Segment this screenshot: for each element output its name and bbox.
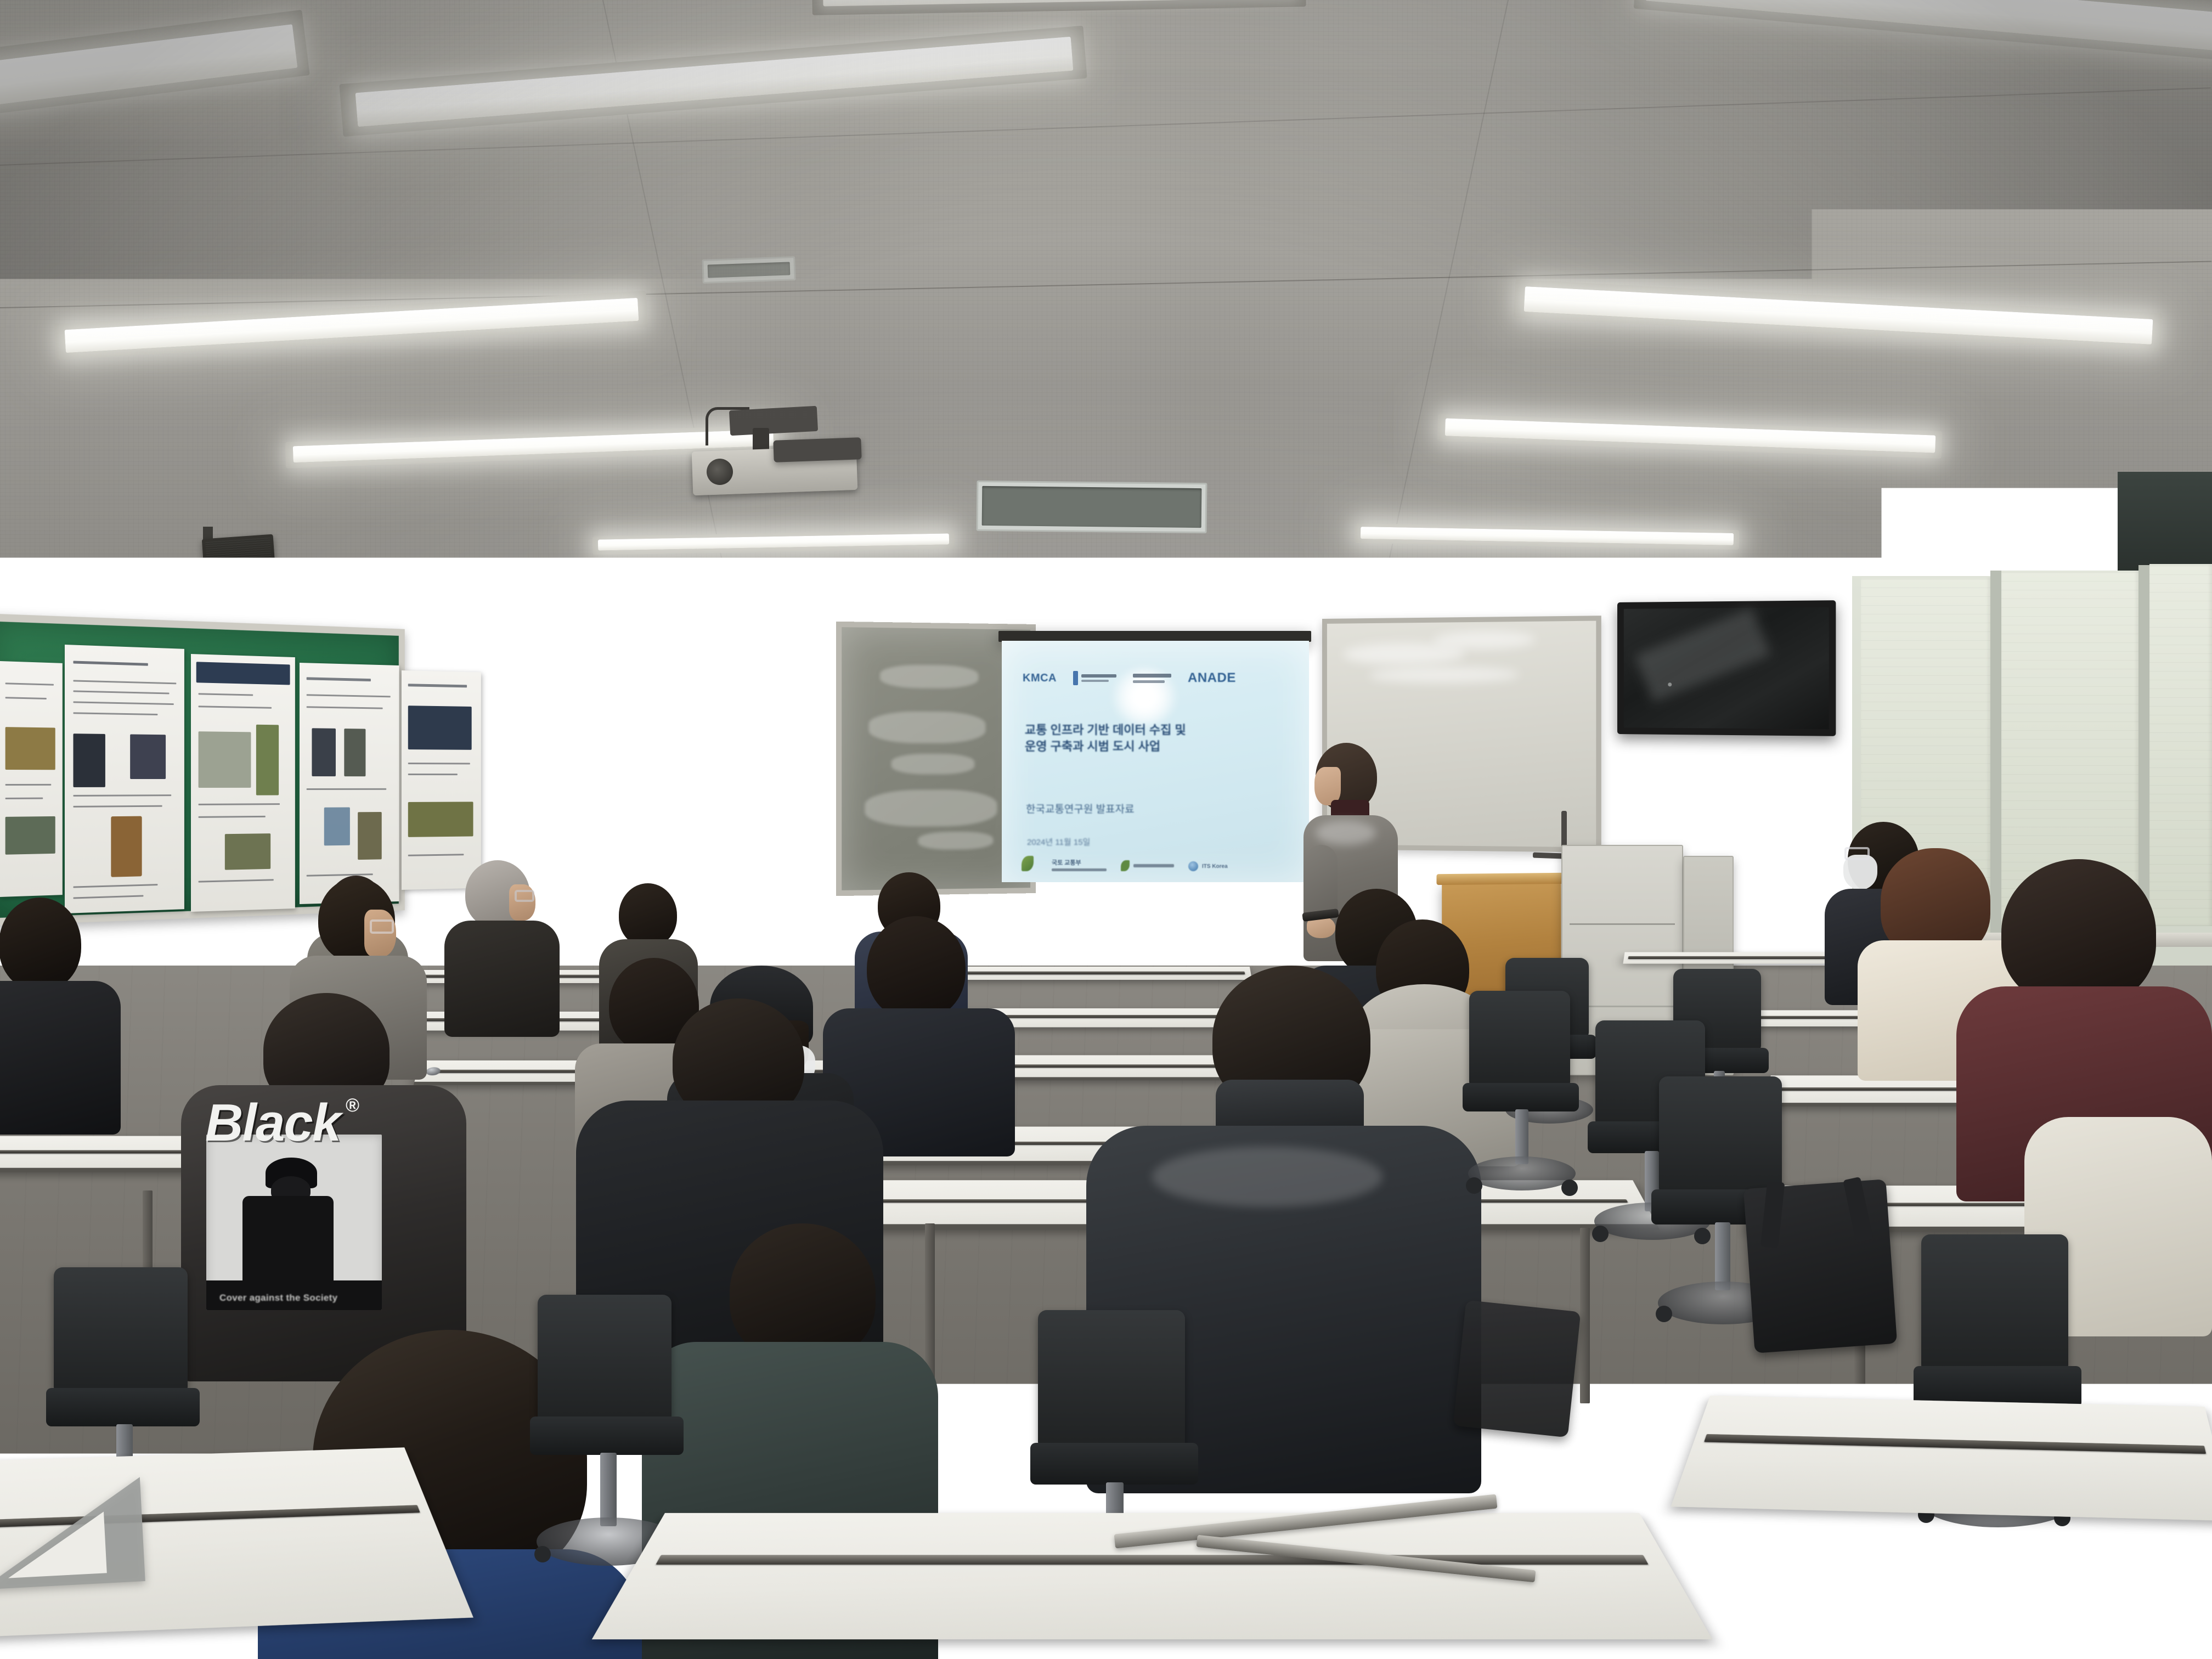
footer-logo-research-partner <box>1121 860 1174 871</box>
leaf-icon <box>1022 856 1034 871</box>
backpack[interactable] <box>1453 1300 1581 1438</box>
wall-panel <box>510 794 558 855</box>
footer-logo-label: 국토 교통부 <box>1052 858 1081 867</box>
student-left-back-dark <box>0 898 121 1128</box>
partner-logo-line <box>1081 674 1116 678</box>
tv-power-led <box>1668 682 1672 686</box>
lectern-top <box>1436 873 1566 885</box>
drafting-table[interactable] <box>1623 952 1855 963</box>
anade-logo: ANADE <box>1188 670 1236 686</box>
tee-graphic-print: Cover against the Society <box>206 1135 382 1310</box>
torso <box>0 981 121 1135</box>
tee-subtitle: Cover against the Society <box>219 1293 337 1304</box>
glasses-icon <box>370 919 394 934</box>
poster <box>65 645 184 913</box>
classroom-door-frame[interactable] <box>560 719 574 916</box>
slide-date-line: 2024년 11월 15일 <box>1027 836 1090 848</box>
footer-logo-its-korea: ITS Korea <box>1188 861 1228 871</box>
head <box>619 883 677 947</box>
wall-mounted-display[interactable] <box>1617 600 1836 736</box>
projector-shadow-body <box>773 437 861 462</box>
projector-mount <box>729 406 818 436</box>
table-leg <box>1580 1228 1590 1403</box>
institute-logo-line <box>1133 680 1165 683</box>
ceiling-air-vent <box>977 481 1207 533</box>
ceiling-air-vent <box>702 256 795 284</box>
ceiling <box>0 0 2212 592</box>
slide-presenter-line: 한국교통연구원 발표자료 <box>1026 801 1135 816</box>
institute-logo-line <box>1133 674 1171 678</box>
rolling-task-chair[interactable] <box>1460 991 1587 1199</box>
partner-logo-line <box>1081 680 1109 682</box>
wall-speaker <box>202 534 278 608</box>
head <box>0 898 81 991</box>
tee-brand-word: Black <box>205 1093 340 1153</box>
drafting-table[interactable] <box>1671 1396 2212 1521</box>
projection-screen-frame <box>998 631 1311 642</box>
poster <box>300 663 399 904</box>
tee-figure-body <box>242 1196 334 1295</box>
slide-title-line-1: 교통 인프라 기반 데이터 수집 및 <box>1025 721 1288 740</box>
partner-bar-logo <box>1073 671 1078 685</box>
student-black-tee: Cover against the Society Black ® <box>181 993 466 1377</box>
drafting-triangle-cutout <box>5 1511 107 1578</box>
sprout-icon <box>1121 860 1130 871</box>
backpack[interactable] <box>1743 1179 1897 1353</box>
poster <box>402 670 481 890</box>
footer-logo-label: ITS Korea <box>1202 864 1228 870</box>
projection-screen[interactable]: KMCA ANADE 교통 인프라 기반 데이터 수집 및 운영 구축과 시범 … <box>1002 641 1309 882</box>
tee-registered-mark: ® <box>346 1095 359 1116</box>
door-handle[interactable] <box>574 789 597 798</box>
slide-title-line-2: 운영 구축과 시범 도시 사업 <box>1025 737 1288 756</box>
projector-lens <box>707 459 733 485</box>
tv-bracket <box>1717 734 1739 748</box>
poster <box>191 654 295 912</box>
globe-icon <box>1188 861 1198 871</box>
kmca-logo: KMCA <box>1023 672 1057 685</box>
footer-logo-transport-institute: 국토 교통부 <box>1052 858 1107 871</box>
poster <box>0 661 63 897</box>
slide-top-logos: KMCA ANADE <box>1023 670 1236 686</box>
head <box>2001 859 2156 1006</box>
footer-logo-line <box>1052 868 1107 871</box>
glasses-icon <box>515 890 534 902</box>
slide-footer-logos: 국토 교통부 ITS Korea <box>1022 856 1228 871</box>
classroom-photo: KMCA ANADE 교통 인프라 기반 데이터 수집 및 운영 구축과 시범 … <box>0 0 2212 1659</box>
footer-logo-green-leaf <box>1022 856 1037 871</box>
footer-logo-line <box>1133 864 1174 867</box>
head <box>730 1223 876 1362</box>
